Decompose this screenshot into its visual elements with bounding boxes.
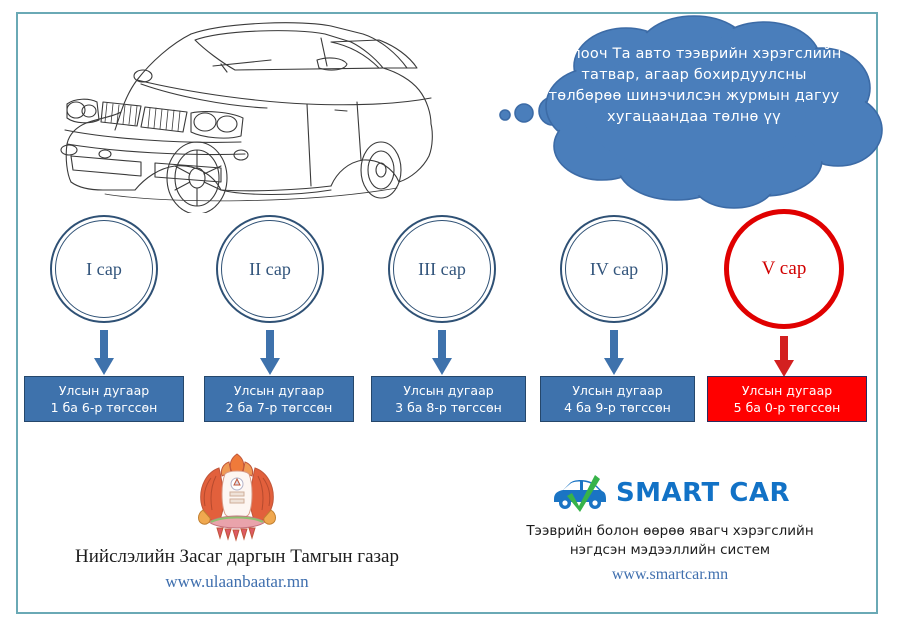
plate-line-2: 3 ба 8-р төгссөн bbox=[395, 399, 502, 416]
smartcar-logo: SMART CAR bbox=[465, 470, 875, 516]
arrow-down-1 bbox=[93, 330, 115, 376]
smart-car-logo-icon bbox=[550, 473, 608, 513]
plate-line-2: 5 ба 0-р төгссөн bbox=[734, 399, 841, 416]
footer-smartcar: SMART CAR Тээврийн болон өөрөө явагч хэр… bbox=[465, 470, 875, 584]
month-label: V сар bbox=[762, 258, 807, 280]
car-illustration bbox=[45, 18, 445, 213]
plate-line-1: Улсын дугаар bbox=[742, 382, 832, 399]
smartcar-description-line-1: Тээврийн болон өөрөө явагч хэрэгслийн bbox=[465, 522, 875, 541]
plate-box-3[interactable]: Улсын дугаар 3 ба 8-р төгссөн bbox=[371, 376, 526, 422]
plate-box-5[interactable]: Улсын дугаар 5 ба 0-р төгссөн bbox=[707, 376, 867, 422]
plate-box-2[interactable]: Улсын дугаар 2 ба 7-р төгссөн bbox=[204, 376, 354, 422]
arrow-down-4 bbox=[603, 330, 625, 376]
footer-government: Нийслэлийн Засаг даргын Тамгын газар www… bbox=[22, 448, 452, 592]
plate-line-2: 4 ба 9-р төгссөн bbox=[564, 399, 671, 416]
smartcar-website-link[interactable]: www.smartcar.mn bbox=[465, 566, 875, 584]
month-circle-4[interactable]: IV сар bbox=[560, 215, 668, 323]
arrow-down-3 bbox=[431, 330, 453, 376]
government-website-link[interactable]: www.ulaanbaatar.mn bbox=[22, 572, 452, 592]
thought-bubble: Жолооч Та авто тээврийн хэрэгслийн татва… bbox=[498, 14, 888, 210]
plate-line-2: 1 ба 6-р төгссөн bbox=[51, 399, 158, 416]
smartcar-description-line-2: нэгдсэн мэдээллийн систем bbox=[465, 541, 875, 560]
plate-box-1[interactable]: Улсын дугаар 1 ба 6-р төгссөн bbox=[24, 376, 184, 422]
month-circle-2[interactable]: II сар bbox=[216, 215, 324, 323]
smartcar-brand-name: SMART CAR bbox=[616, 478, 790, 508]
bubble-message: Жолооч Та авто тээврийн хэрэгслийн татва… bbox=[546, 44, 842, 128]
plate-line-1: Улсын дугаар bbox=[403, 382, 493, 399]
month-label: IV сар bbox=[590, 259, 638, 280]
infographic-page: Жолооч Та авто тээврийн хэрэгслийн татва… bbox=[0, 0, 900, 629]
month-label: I сар bbox=[86, 259, 122, 280]
month-circle-1[interactable]: I сар bbox=[50, 215, 158, 323]
month-circle-3[interactable]: III сар bbox=[388, 215, 496, 323]
month-label: III сар bbox=[418, 259, 466, 280]
plate-line-1: Улсын дугаар bbox=[59, 382, 149, 399]
plate-line-1: Улсын дугаар bbox=[572, 382, 662, 399]
arrow-down-2 bbox=[259, 330, 281, 376]
plate-line-2: 2 ба 7-р төгссөн bbox=[226, 399, 333, 416]
plate-box-4[interactable]: Улсын дугаар 4 ба 9-р төгссөн bbox=[540, 376, 695, 422]
plate-line-1: Улсын дугаар bbox=[234, 382, 324, 399]
month-circle-5[interactable]: V сар bbox=[724, 209, 844, 329]
government-organization-name: Нийслэлийн Засаг даргын Тамгын газар bbox=[22, 546, 452, 568]
month-label: II сар bbox=[249, 259, 291, 280]
mongolia-emblem-icon bbox=[189, 448, 285, 544]
smartcar-description: Тээврийн болон өөрөө явагч хэрэгслийн нэ… bbox=[465, 522, 875, 560]
